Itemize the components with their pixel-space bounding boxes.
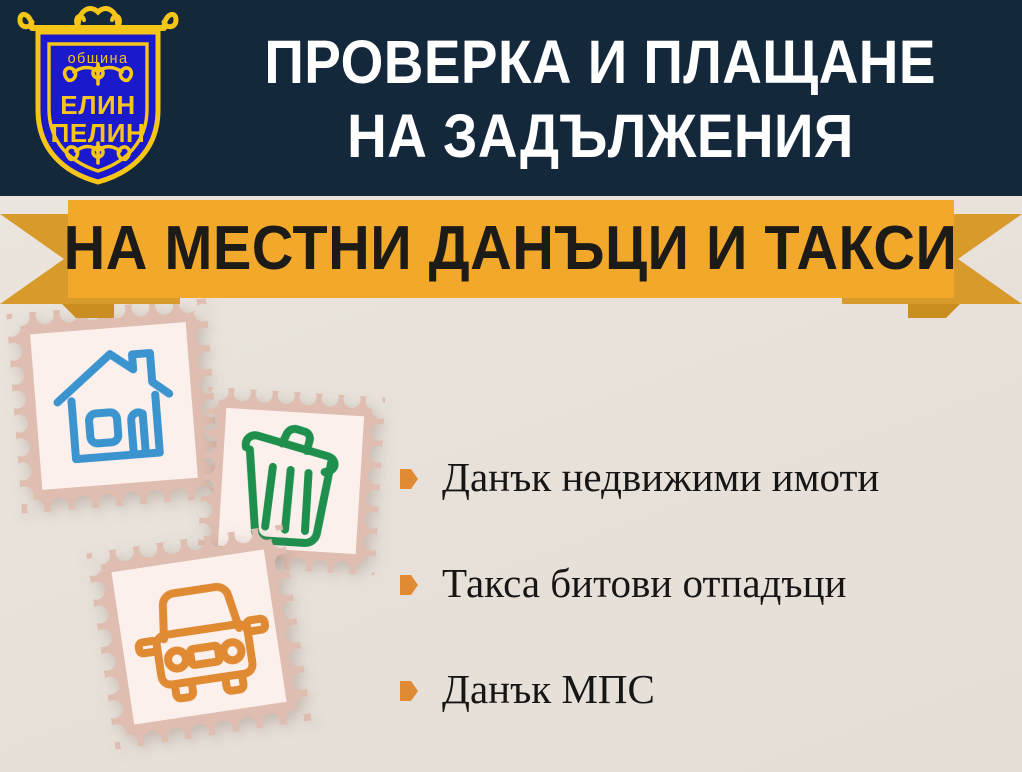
arrow-bullet-icon (400, 574, 418, 596)
municipality-logo: община ЕЛИН ПЕЛИН (12, 2, 184, 188)
list-item[interactable]: Данък МПС (400, 636, 1010, 742)
list-item[interactable]: Данък недвижими имоти (400, 424, 1010, 530)
logo-name-line1: ЕЛИН (60, 90, 135, 120)
header-title-line-1: ПРОВЕРКА И ПЛАЩАНЕ (264, 25, 936, 99)
header-title: ПРОВЕРКА И ПЛАЩАНЕ НА ЗАДЪЛЖЕНИЯ (190, 16, 1010, 182)
subtitle-ribbon: НА МЕСТНИ ДАНЪЦИ И ТАКСИ (0, 196, 1022, 311)
ribbon-banner: НА МЕСТНИ ДАНЪЦИ И ТАКСИ (68, 200, 954, 298)
car-stamp (86, 524, 311, 749)
shield-scroll-ornament (20, 9, 176, 28)
tax-types-list: Данък недвижими имоти Такса битови отпад… (400, 424, 1010, 742)
list-item-label: Данък недвижими имоти (442, 454, 879, 500)
arrow-bullet-icon (400, 680, 418, 702)
poster-canvas: община ЕЛИН ПЕЛИН ПРОВЕРКА И П (0, 0, 1022, 772)
list-item[interactable]: Такса битови отпадъци (400, 530, 1010, 636)
list-item-label: Такса битови отпадъци (442, 560, 846, 606)
arrow-bullet-icon (400, 468, 418, 490)
house-stamp (6, 298, 221, 513)
header-title-line-2: НА ЗАДЪЛЖЕНИЯ (347, 99, 854, 173)
list-item-label: Данък МПС (442, 666, 655, 712)
ribbon-text: НА МЕСТНИ ДАНЪЦИ И ТАКСИ (64, 218, 958, 280)
